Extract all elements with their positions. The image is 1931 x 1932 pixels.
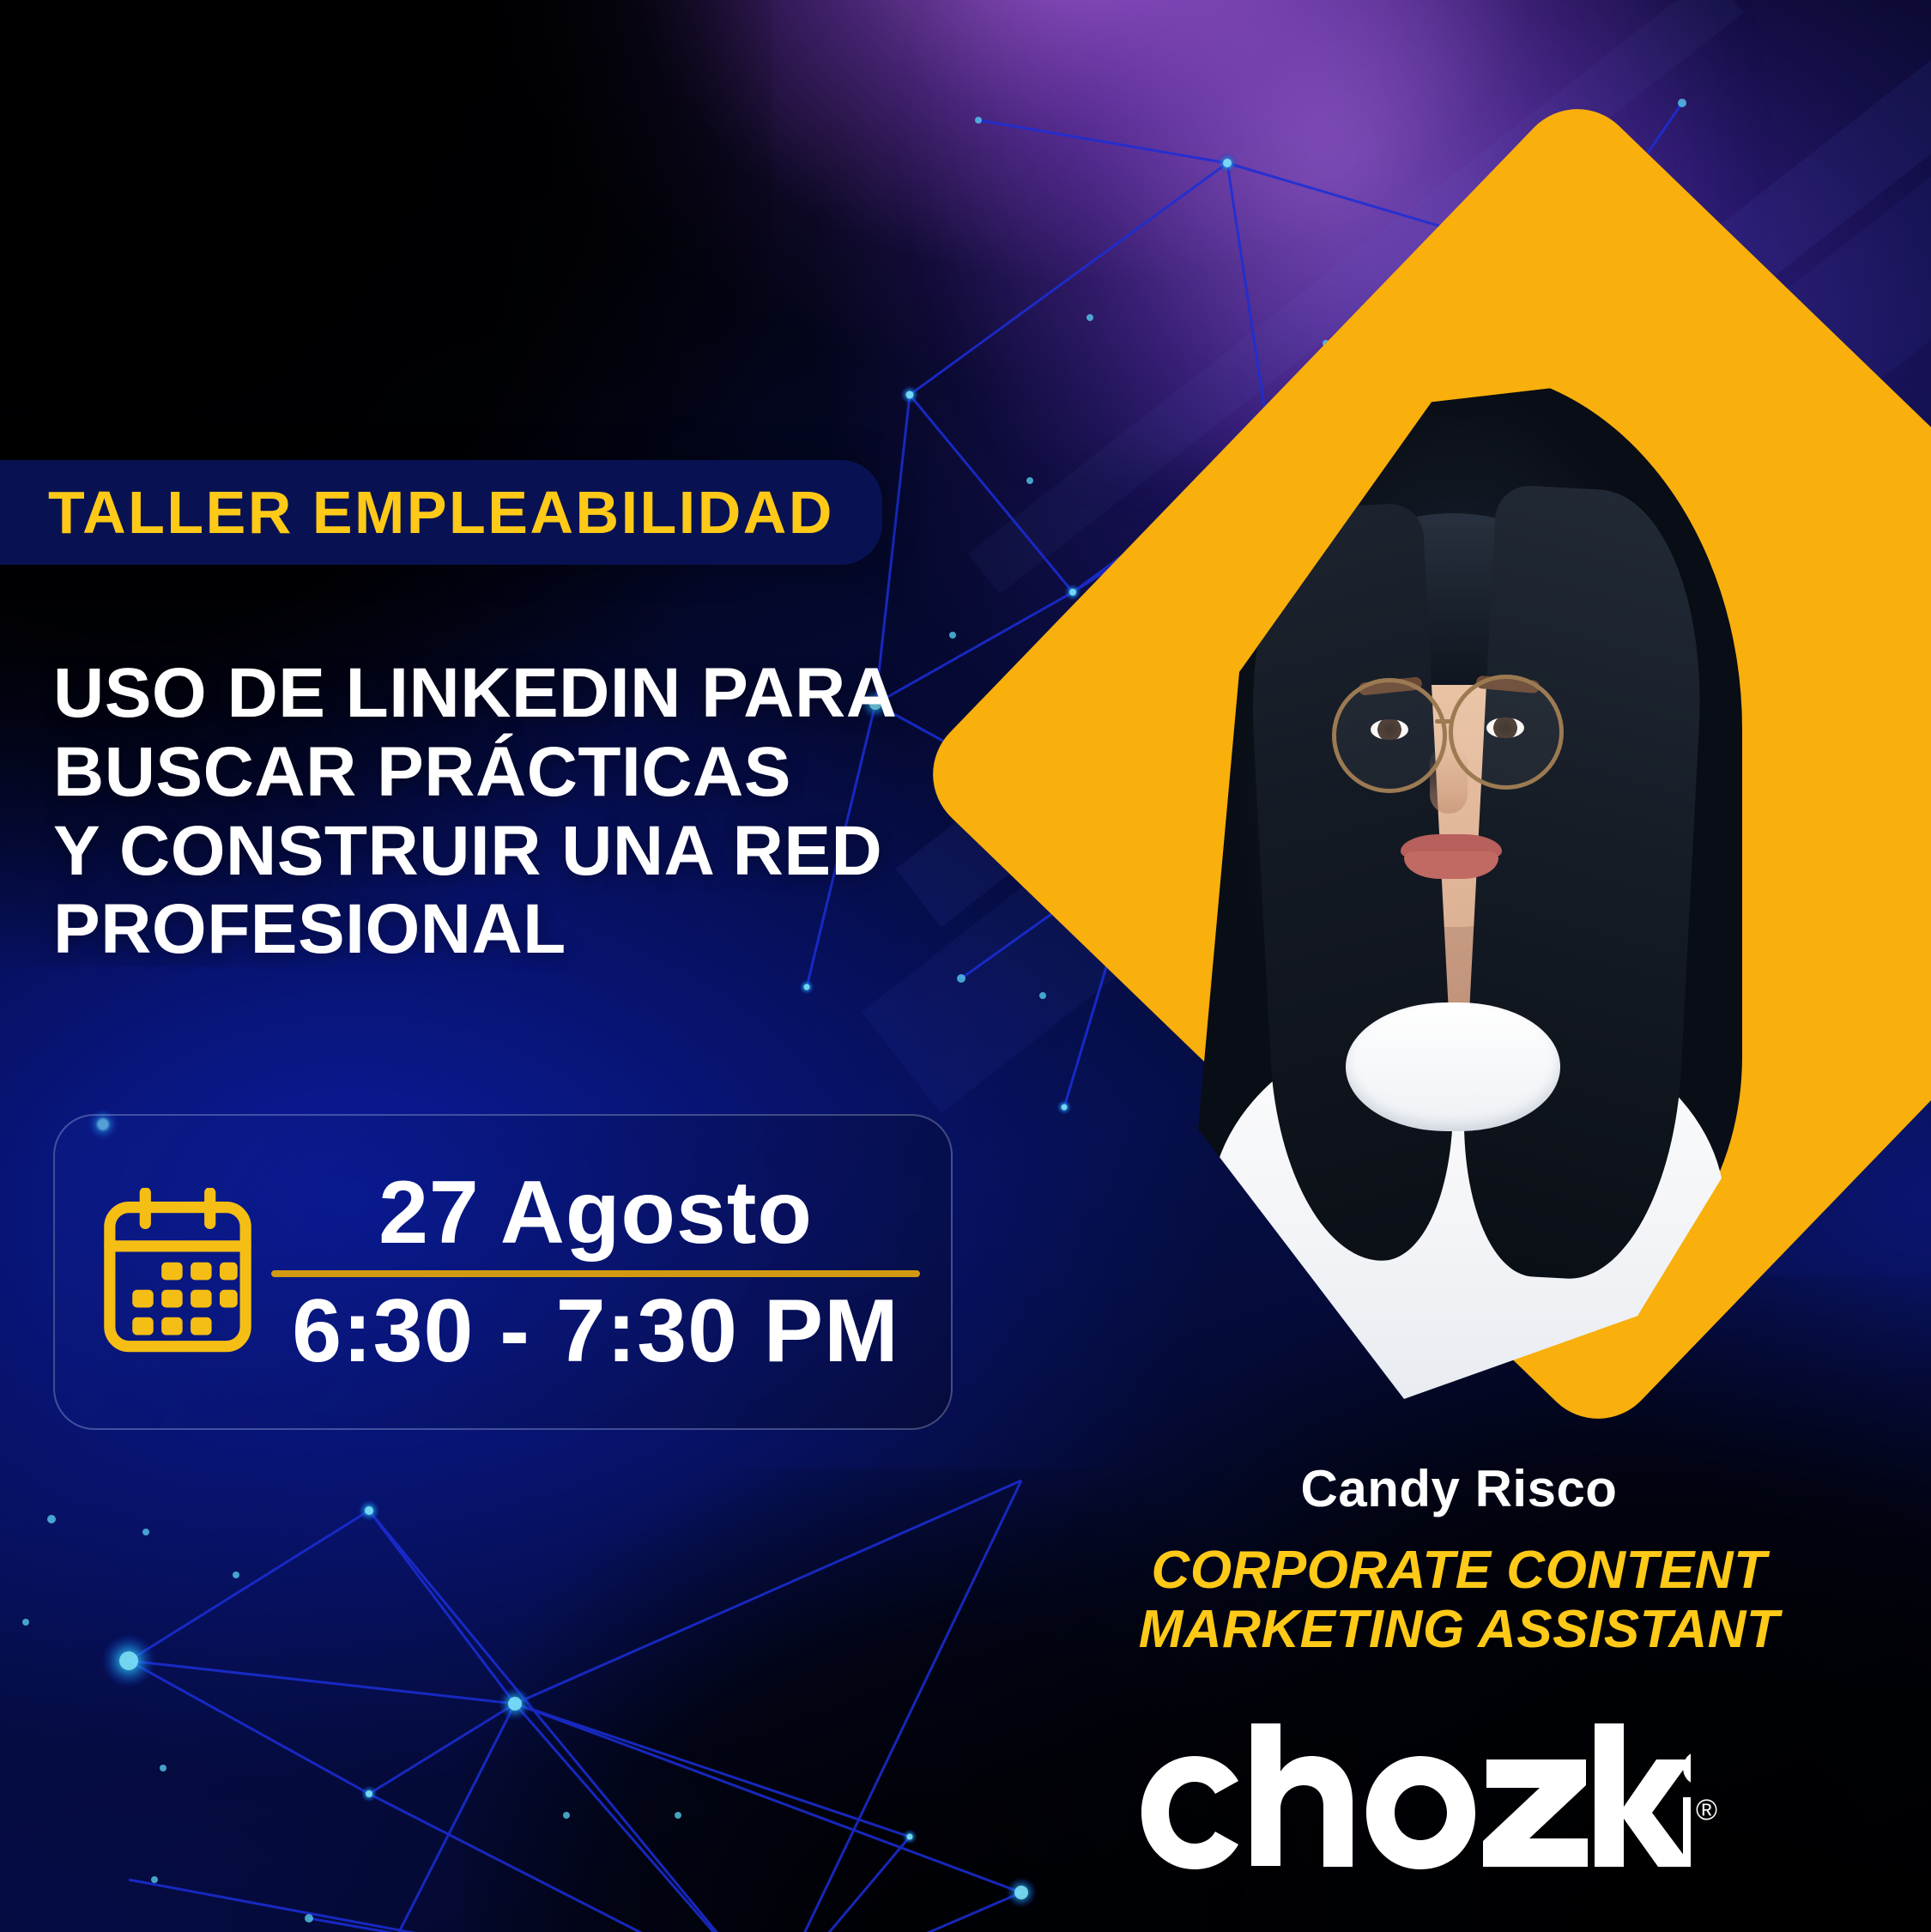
card-divider bbox=[271, 1270, 920, 1277]
workshop-badge: TALLER EMPLEABILIDAD bbox=[0, 460, 882, 565]
registered-trademark-icon: ® bbox=[1696, 1796, 1717, 1825]
brand-logo: ® bbox=[1141, 1706, 1777, 1869]
headline-line-4: PROFESIONAL bbox=[53, 890, 1049, 969]
page-title: USO DE LINKEDIN PARA BUSCAR PRÁCTICAS Y … bbox=[53, 654, 1049, 969]
chazki-wordmark-icon bbox=[1141, 1723, 1691, 1869]
speaker-role-line-1: CORPORATE CONTENT bbox=[987, 1541, 1931, 1600]
event-date: 27Agosto bbox=[378, 1166, 813, 1260]
event-day: 27 bbox=[378, 1163, 480, 1263]
event-datetime-card: 27Agosto 6:30 - 7:30 PM bbox=[53, 1114, 953, 1430]
headline-line-1: USO DE LINKEDIN PARA bbox=[53, 654, 1049, 733]
speaker-role: CORPORATE CONTENT MARKETING ASSISTANT bbox=[987, 1541, 1931, 1660]
calendar-icon bbox=[96, 1188, 259, 1356]
speaker-name: Candy Risco bbox=[987, 1459, 1931, 1518]
event-month: Agosto bbox=[500, 1163, 813, 1263]
headline-line-2: BUSCAR PRÁCTICAS bbox=[53, 733, 1049, 812]
workshop-badge-label: TALLER EMPLEABILIDAD bbox=[48, 482, 834, 542]
event-time: 6:30 - 7:30 PM bbox=[292, 1284, 899, 1378]
headline-line-3: Y CONSTRUIR UNA RED bbox=[53, 812, 1049, 891]
promotional-poster: TALLER EMPLEABILIDAD USO DE LINKEDIN PAR… bbox=[0, 0, 1931, 1932]
speaker-role-line-2: MARKETING ASSISTANT bbox=[987, 1600, 1931, 1659]
speaker-info: Candy Risco CORPORATE CONTENT MARKETING … bbox=[987, 1459, 1931, 1660]
eyeglasses-icon bbox=[1332, 678, 1447, 793]
eyeglasses-icon bbox=[1449, 675, 1564, 790]
